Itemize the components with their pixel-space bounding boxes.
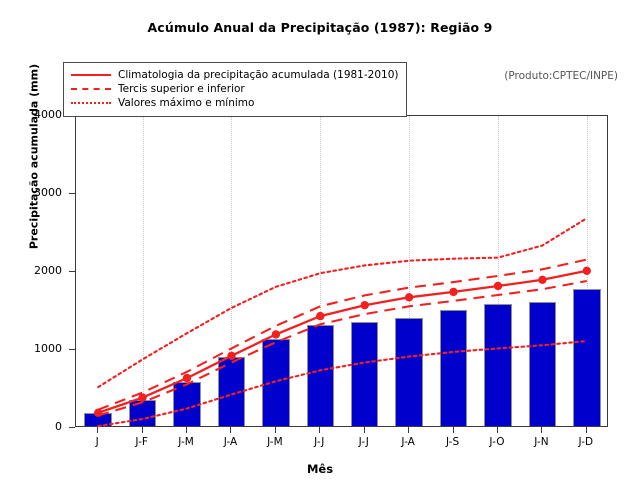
legend-item: Tercis superior e inferior xyxy=(71,82,398,96)
climatology-marker xyxy=(227,352,235,360)
climatology-marker xyxy=(94,409,102,417)
x-tick-label-J-A: J-A xyxy=(385,436,431,448)
climatology-marker xyxy=(316,312,324,320)
curve-dashed xyxy=(98,260,587,410)
legend-label: Valores máximo e mínimo xyxy=(118,97,254,109)
plot-inner xyxy=(76,116,607,426)
chart-title: Acúmulo Anual da Precipitação (1987): Re… xyxy=(0,20,640,35)
legend-label: Tercis superior e inferior xyxy=(118,83,245,95)
x-tick-label-J-J: J-J xyxy=(341,436,387,448)
x-tick-label-J-J: J-J xyxy=(296,436,342,448)
precipitation-chart: Acúmulo Anual da Precipitação (1987): Re… xyxy=(0,0,640,500)
x-tick-label-J-O: J-O xyxy=(474,436,520,448)
legend-item: Valores máximo e mínimo xyxy=(71,96,398,110)
curve-dotted xyxy=(98,341,587,426)
climatology-marker xyxy=(361,301,369,309)
climatology-curves xyxy=(76,116,609,428)
legend-line-sample-solid xyxy=(71,69,111,81)
x-tick-label-J-F: J-F xyxy=(119,436,165,448)
x-tick-label-J-A: J-A xyxy=(207,436,253,448)
y-tick-label: 2000 xyxy=(0,264,62,277)
plot-area xyxy=(75,115,608,427)
legend-item: Climatologia da precipitação acumulada (… xyxy=(71,68,398,82)
x-tick-label-J-N: J-N xyxy=(518,436,564,448)
climatology-marker xyxy=(449,288,457,296)
x-tick-label-J-M: J-M xyxy=(252,436,298,448)
y-tick-label: 1000 xyxy=(0,342,62,355)
x-tick-label-J: J xyxy=(74,436,120,448)
y-tick-label: 4000 xyxy=(0,108,62,121)
x-tick-label-J-S: J-S xyxy=(430,436,476,448)
x-axis-label: Mês xyxy=(0,462,640,476)
climatology-marker xyxy=(405,293,413,301)
x-tick-label-J-D: J-D xyxy=(563,436,609,448)
chart-legend: Climatologia da precipitação acumulada (… xyxy=(63,62,407,117)
y-tick-label: 3000 xyxy=(0,186,62,199)
curve-dashed xyxy=(98,281,587,416)
legend-line-sample-dotted xyxy=(71,97,111,109)
curve-dotted xyxy=(98,218,587,387)
climatology-marker xyxy=(538,276,546,284)
climatology-marker xyxy=(583,267,591,275)
climatology-marker xyxy=(272,330,280,338)
climatology-marker xyxy=(138,393,146,401)
y-tick-label: 0 xyxy=(0,420,62,433)
y-tick-mark xyxy=(69,427,75,428)
legend-label: Climatologia da precipitação acumulada (… xyxy=(118,69,398,81)
climatology-marker xyxy=(494,282,502,290)
x-tick-label-J-M: J-M xyxy=(163,436,209,448)
y-axis-label: Precipitação acumulada (mm) xyxy=(28,27,41,287)
producer-annotation: (Produto:CPTEC/INPE) xyxy=(504,70,618,82)
climatology-marker xyxy=(183,374,191,382)
legend-line-sample-dashed xyxy=(71,83,111,95)
